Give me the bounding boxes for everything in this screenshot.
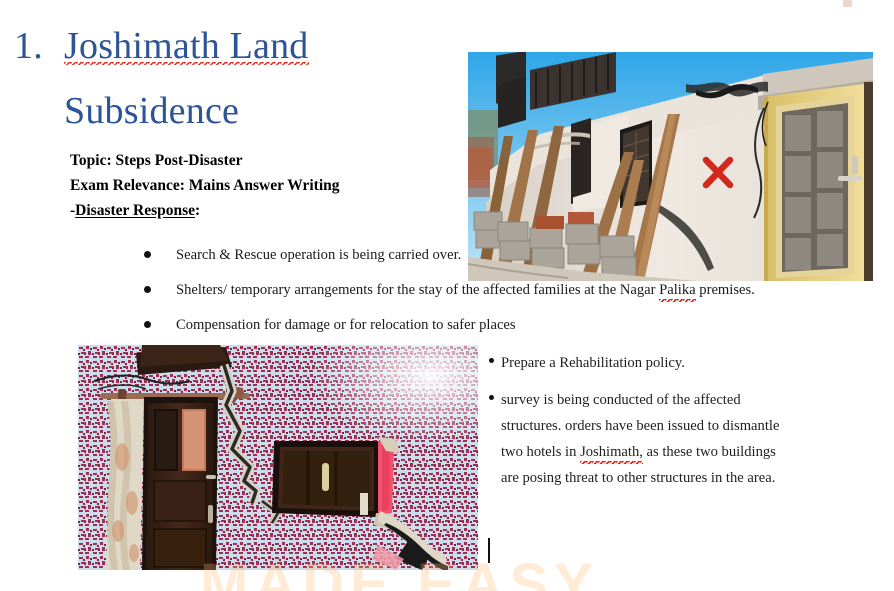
photo-cracked-building (468, 52, 873, 281)
page-title: 1.Joshimath Land Subsidence (14, 14, 454, 145)
photo-cracked-wall (78, 345, 478, 570)
list-item: Shelters/ temporary arrangements for the… (136, 278, 894, 304)
corner-artifact (843, 0, 852, 7)
exam-relevance-label: Exam Relevance: Mains Answer Writing (70, 173, 490, 198)
heading-title-line-1: Joshimath Land (64, 25, 309, 67)
list-item: Compensation for damage or for relocatio… (136, 313, 894, 339)
topic-block: Topic: Steps Post-Disaster Exam Relevanc… (70, 148, 490, 223)
list-item: survey is being conducted of the affecte… (489, 388, 789, 492)
list-item-text: Shelters/ temporary arrangements for the… (176, 282, 755, 302)
section-label: Disaster Response (75, 202, 195, 219)
list-item: Search & Rescue operation is being carri… (136, 243, 476, 269)
list-item: Prepare a Rehabilitation policy. (489, 351, 789, 377)
rehabilitation-list: Prepare a Rehabilitation policy. survey … (489, 351, 789, 503)
topic-label: Topic: Steps Post-Disaster (70, 148, 490, 173)
watermark: MADE EASY (200, 551, 700, 591)
section-heading: -Disaster Response: (70, 198, 490, 223)
section-suffix: : (195, 202, 200, 219)
heading-number: 1. (14, 14, 64, 79)
document-page: 1.Joshimath Land Subsidence Topic: Steps… (0, 0, 894, 585)
heading-title-line-2: Subsidence (64, 90, 239, 132)
